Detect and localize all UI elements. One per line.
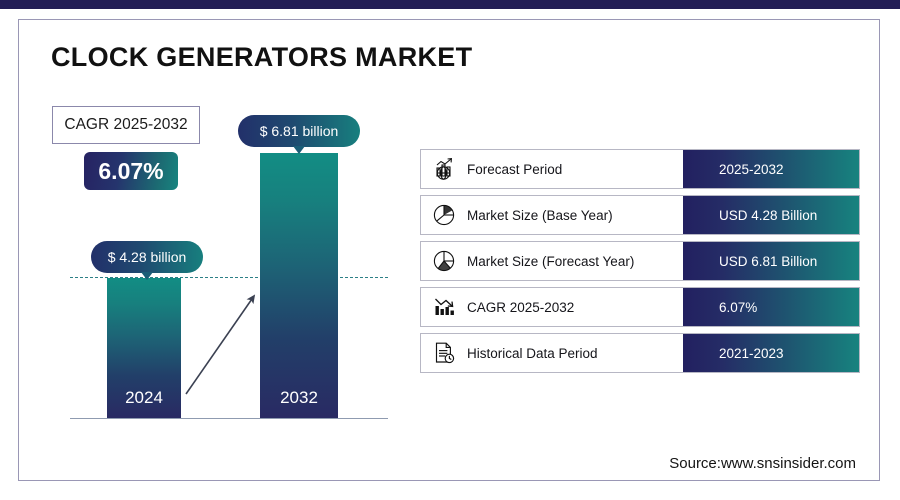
spec-row-right: USD 6.81 Billion bbox=[683, 242, 859, 280]
chart-baseline bbox=[70, 418, 388, 420]
table-row: Market Size (Forecast Year) USD 6.81 Bil… bbox=[420, 241, 860, 281]
spec-row-left: Market Size (Forecast Year) bbox=[421, 242, 683, 280]
spec-row-right: USD 4.28 Billion bbox=[683, 196, 859, 234]
spec-label: Forecast Period bbox=[467, 162, 562, 177]
spec-label: Historical Data Period bbox=[467, 346, 598, 361]
pie-chart-icon bbox=[421, 202, 467, 228]
spec-label: Market Size (Forecast Year) bbox=[467, 254, 634, 269]
spec-row-left: Market Size (Base Year) bbox=[421, 196, 683, 234]
spec-value: USD 6.81 Billion bbox=[719, 254, 817, 269]
spec-row-right: 2021-2023 bbox=[683, 334, 859, 372]
table-row: Market Size (Base Year) USD 4.28 Billion bbox=[420, 195, 860, 235]
spec-value: 6.07% bbox=[719, 300, 757, 315]
document-clock-icon bbox=[421, 340, 467, 366]
bar-label-2032: 2032 bbox=[260, 388, 338, 408]
table-row: Forecast Period 2025-2032 bbox=[420, 149, 860, 189]
spec-row-right: 6.07% bbox=[683, 288, 859, 326]
spec-row-left: Historical Data Period bbox=[421, 334, 683, 372]
infographic-canvas: CLOCK GENERATORS MARKET CAGR 2025-2032 6… bbox=[0, 0, 900, 500]
spec-row-left: Forecast Period bbox=[421, 150, 683, 188]
callout-bubble-2024: $ 4.28 billion bbox=[91, 241, 203, 273]
bar-label-2024: 2024 bbox=[107, 388, 181, 408]
globe-growth-chart-icon bbox=[421, 156, 467, 182]
top-accent-band bbox=[0, 0, 900, 9]
callout-bubble-2032: $ 6.81 billion bbox=[238, 115, 360, 147]
source-attribution: Source:www.snsinsider.com bbox=[669, 455, 856, 472]
table-row: CAGR 2025-2032 6.07% bbox=[420, 287, 860, 327]
spec-label: CAGR 2025-2032 bbox=[467, 300, 574, 315]
spec-value: 2025-2032 bbox=[719, 162, 784, 177]
bar-chart-decline-icon bbox=[421, 294, 467, 320]
page-title: CLOCK GENERATORS MARKET bbox=[51, 42, 472, 73]
spec-row-left: CAGR 2025-2032 bbox=[421, 288, 683, 326]
bar-2032: 2032 bbox=[260, 153, 338, 418]
spec-table: Forecast Period 2025-2032 bbox=[420, 149, 860, 379]
growth-arrow-icon bbox=[180, 284, 266, 400]
spec-value: USD 4.28 Billion bbox=[719, 208, 817, 223]
pie-chart-segments-icon bbox=[421, 248, 467, 274]
table-row: Historical Data Period 2021-2023 bbox=[420, 333, 860, 373]
spec-row-right: 2025-2032 bbox=[683, 150, 859, 188]
spec-label: Market Size (Base Year) bbox=[467, 208, 613, 223]
spec-value: 2021-2023 bbox=[719, 346, 784, 361]
bar-2024: 2024 bbox=[107, 278, 181, 418]
